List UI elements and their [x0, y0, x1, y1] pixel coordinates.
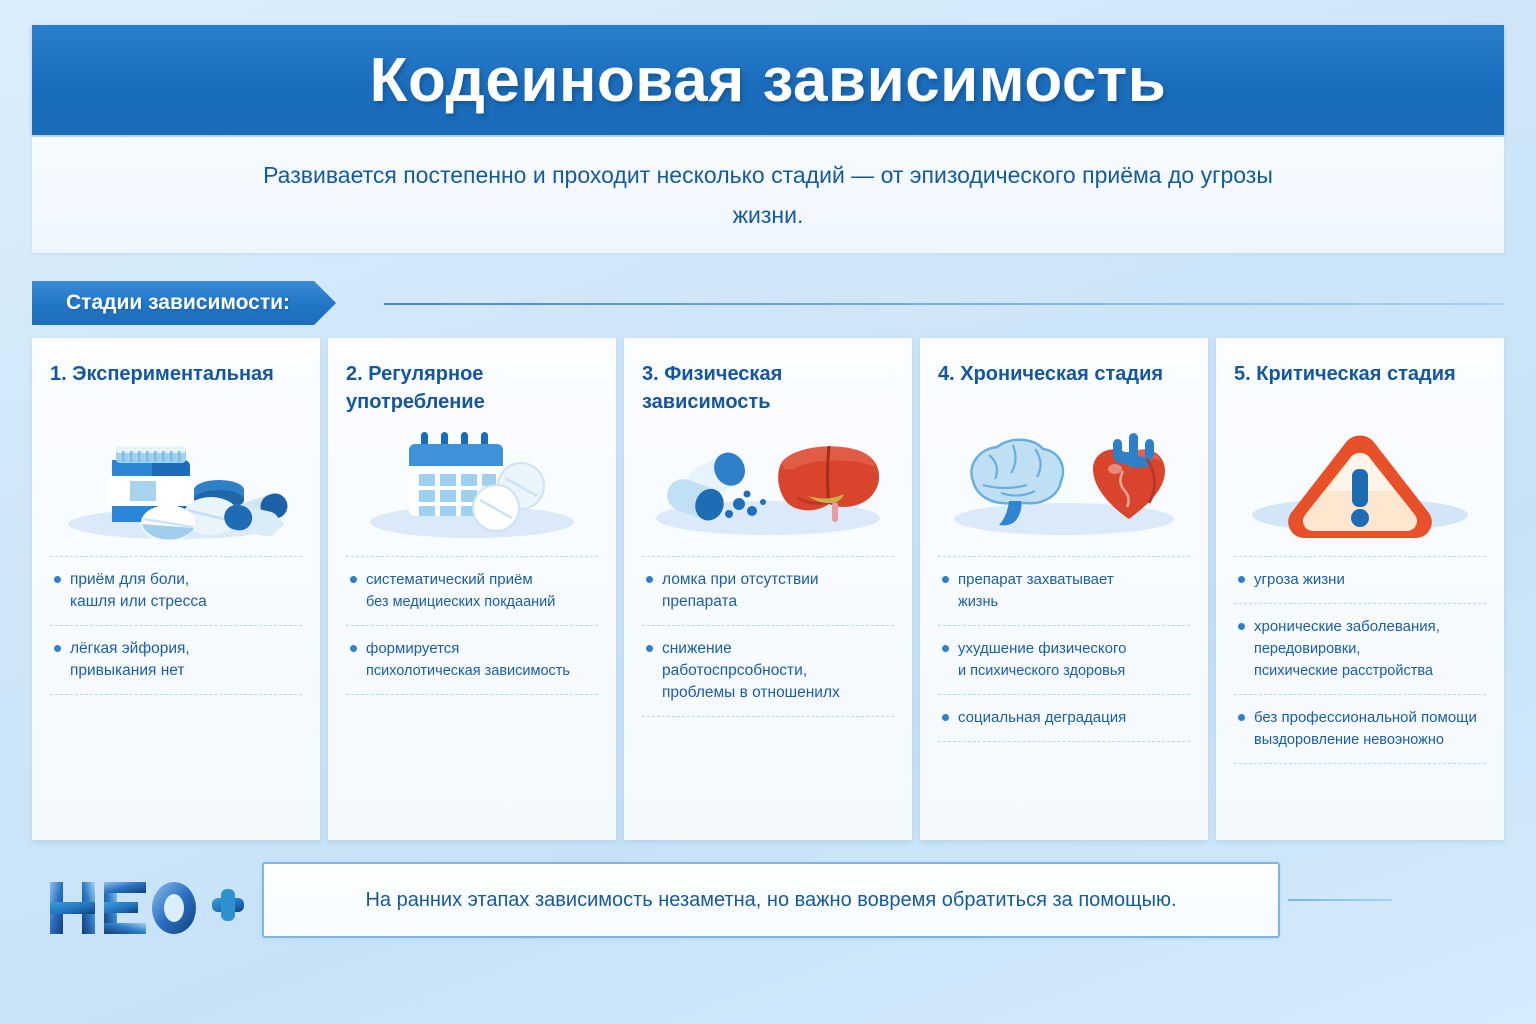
capsule-liver-icon	[642, 422, 894, 546]
list-item: ломка при отсутствии препарата	[642, 557, 894, 626]
banner-divider-rule	[384, 303, 1504, 305]
footer-note-text: На ранних этапах зависимость незаметна, …	[365, 889, 1176, 912]
bullet-line: хронические заболевания,	[1254, 618, 1440, 635]
bullet-line: без профессиональной помощи	[1254, 709, 1477, 726]
section-banner-area: Стадии зависимости:	[32, 281, 1504, 325]
stage-card-4-bullets: препарат захватывает жизнь ухудшение физ…	[938, 556, 1190, 742]
pill-bottle-icon	[50, 422, 302, 546]
bullet-line: выздоровление невоэножно	[1254, 729, 1484, 751]
section-banner-label: Стадии зависимости:	[66, 291, 290, 315]
bullet-dot-icon	[54, 645, 61, 652]
bullet-line: и психического здоровья	[958, 660, 1188, 682]
list-item: систематический приём без медициеских по…	[346, 557, 598, 626]
bullet-line: кашля или стресса	[70, 591, 300, 613]
stage-card-5-bullets: угроза жизни хронические заболевания, пе…	[1234, 556, 1486, 764]
stage-card-3-bullets: ломка при отсутствии препарата снижение …	[642, 556, 894, 717]
stage-card-4-title: 4. Хроническая стадия	[938, 360, 1190, 418]
bullet-line: формируется	[366, 640, 459, 657]
bullet-dot-icon	[942, 645, 949, 652]
stage-card-5-title: 5. Критическая стадия	[1234, 360, 1486, 418]
bullet-dot-icon	[350, 645, 357, 652]
stage-card-3[interactable]: 3. Физическая зависимость	[624, 338, 912, 840]
bullet-line: угроза жизни	[1254, 571, 1345, 588]
calendar-pills-icon	[346, 422, 598, 546]
bullet-dot-icon	[942, 714, 949, 721]
bullet-line: лёгкая эйфория,	[70, 640, 190, 657]
stage-card-2-title: 2. Регулярное употребление	[346, 360, 598, 418]
stage-card-1[interactable]: 1. Экспериментальная	[32, 338, 320, 840]
list-item: социальная деградация	[938, 695, 1190, 742]
bullet-line: ухудшение физического	[958, 640, 1127, 657]
bullet-line: без медициеских покдааний	[366, 591, 596, 613]
bullet-line: препарат захватывает	[958, 571, 1114, 588]
stage-card-2-bullets: систематический приём без медициеских по…	[346, 556, 598, 695]
footer-divider-rule	[1288, 899, 1392, 901]
bullet-line: препарата	[662, 591, 892, 613]
bullet-line: систематический приём	[366, 571, 533, 588]
stage-card-1-title: 1. Экспериментальная	[50, 360, 302, 418]
bullet-dot-icon	[942, 576, 949, 583]
stage-card-5[interactable]: 5. Критическая стадия угроза жизни	[1216, 338, 1504, 840]
bullet-line: психические расстройства	[1254, 660, 1484, 682]
bullet-line: психолотическая зависимость	[366, 660, 596, 682]
list-item: формируется психолотическая зависимость	[346, 626, 598, 695]
bullet-dot-icon	[350, 576, 357, 583]
bullet-dot-icon	[1238, 714, 1245, 721]
bullet-line: передовировки,	[1254, 638, 1484, 660]
stage-card-4[interactable]: 4. Хроническая стадия	[920, 338, 1208, 840]
bullet-line: ломка при отсутствии	[662, 571, 819, 588]
bullet-dot-icon	[1238, 576, 1245, 583]
list-item: угроза жизни	[1234, 557, 1486, 604]
stage-card-1-bullets: приём для боли, кашля или стресса лёгкая…	[50, 556, 302, 695]
bullet-line: приём для боли,	[70, 571, 189, 588]
list-item: приём для боли, кашля или стресса	[50, 557, 302, 626]
footer-note-box: На ранних этапах зависимость незаметна, …	[262, 862, 1280, 938]
bullet-line: проблемы в отношенилх	[662, 682, 892, 704]
bullet-line: работоспрсобности,	[662, 660, 892, 682]
bullet-line: жизнь	[958, 591, 1188, 613]
brand-logo[interactable]	[44, 872, 244, 944]
bullet-line: снижение	[662, 640, 732, 657]
bullet-line: привыкания нет	[70, 660, 300, 682]
page-subtitle: Развивается постепенно и проходит нескол…	[238, 155, 1298, 235]
list-item: без профессиональной помощи выздоровлени…	[1234, 695, 1486, 764]
list-item: хронические заболевания, передовировки, …	[1234, 604, 1486, 695]
stages-card-row: 1. Экспериментальная	[32, 338, 1504, 840]
list-item: препарат захватывает жизнь	[938, 557, 1190, 626]
title-bar: Кодеиновая зависимость	[32, 25, 1504, 135]
bullet-dot-icon	[646, 645, 653, 652]
brain-heart-icon	[938, 422, 1190, 546]
warning-triangle-icon	[1234, 422, 1486, 546]
bullet-dot-icon	[646, 576, 653, 583]
bullet-dot-icon	[1238, 623, 1245, 630]
bullet-line: социальная деградация	[958, 709, 1126, 726]
list-item: снижение работоспрсобности, проблемы в о…	[642, 626, 894, 717]
stage-card-2[interactable]: 2. Регулярное употребление	[328, 338, 616, 840]
stage-card-3-title: 3. Физическая зависимость	[642, 360, 894, 418]
section-banner: Стадии зависимости:	[32, 281, 336, 325]
bullet-dot-icon	[54, 576, 61, 583]
subtitle-panel: Развивается постепенно и проходит нескол…	[32, 137, 1504, 253]
infographic-page: Кодеиновая зависимость Развивается посте…	[0, 0, 1536, 1024]
list-item: лёгкая эйфория, привыкания нет	[50, 626, 302, 695]
page-title: Кодеиновая зависимость	[370, 45, 1167, 116]
list-item: ухудшение физического и психического здо…	[938, 626, 1190, 695]
